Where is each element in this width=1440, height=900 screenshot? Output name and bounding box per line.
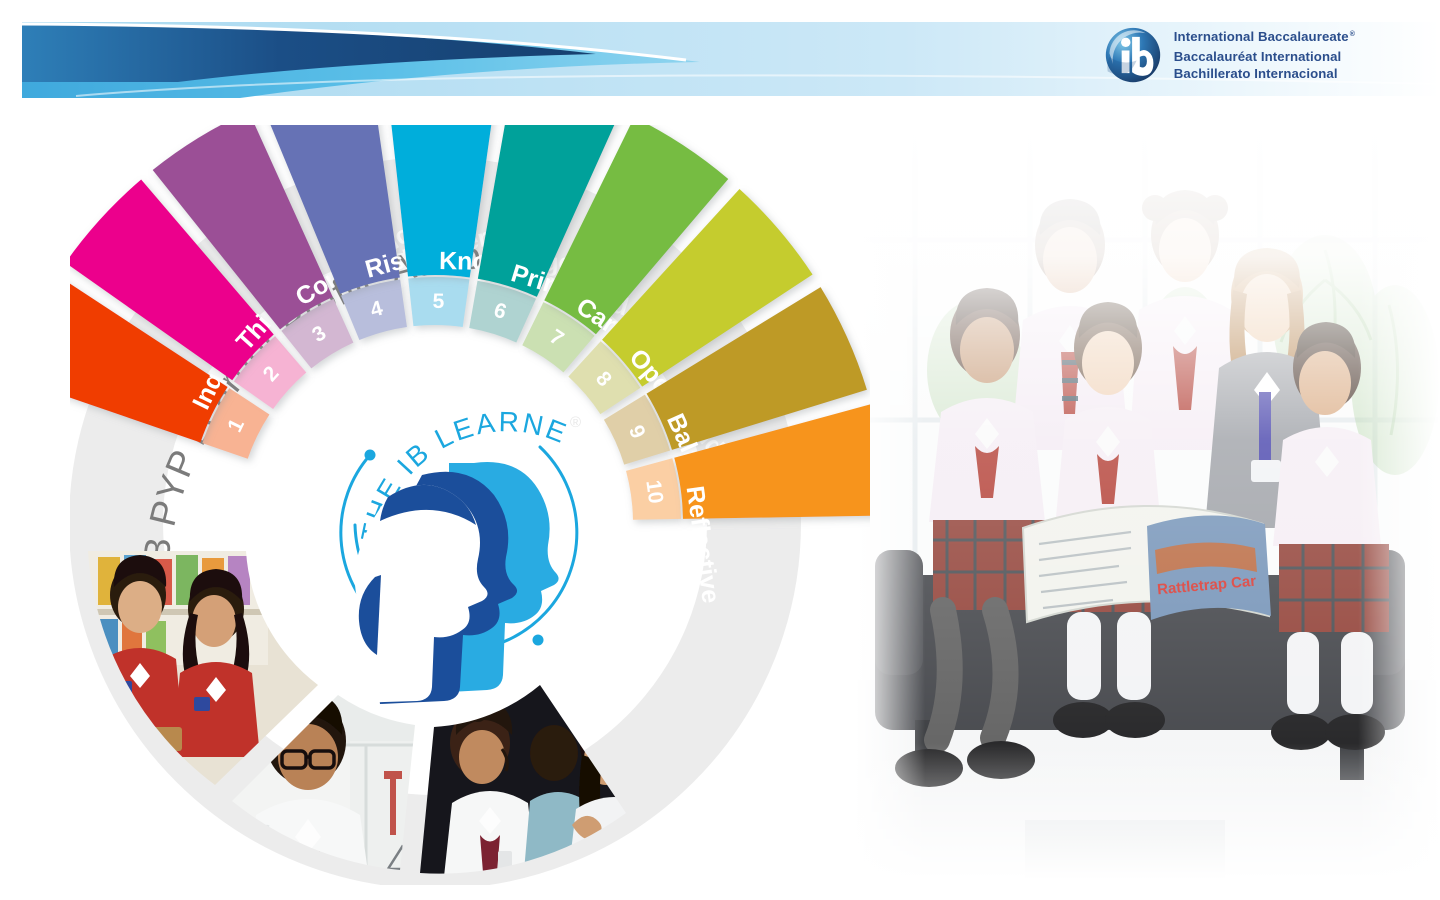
ib-logo-icon [1104,26,1162,84]
ib-logo-line-es: Bachillerato Internacional [1174,66,1354,82]
ib-logo-text: International Baccalaureate Baccalauréat… [1174,29,1354,82]
slide-canvas: Rattletrap Car [0,0,1440,900]
collage-photo-students-talking [410,665,662,885]
ib-logo-line-fr: Baccalauréat International [1174,49,1354,65]
ib-logo-line-en: International Baccalaureate [1174,29,1354,48]
photo-collage [70,125,870,885]
ib-logo: International Baccalaureate Baccalauréat… [1104,26,1354,84]
teacher-reading-with-students-photo: Rattletrap Car [855,120,1440,880]
